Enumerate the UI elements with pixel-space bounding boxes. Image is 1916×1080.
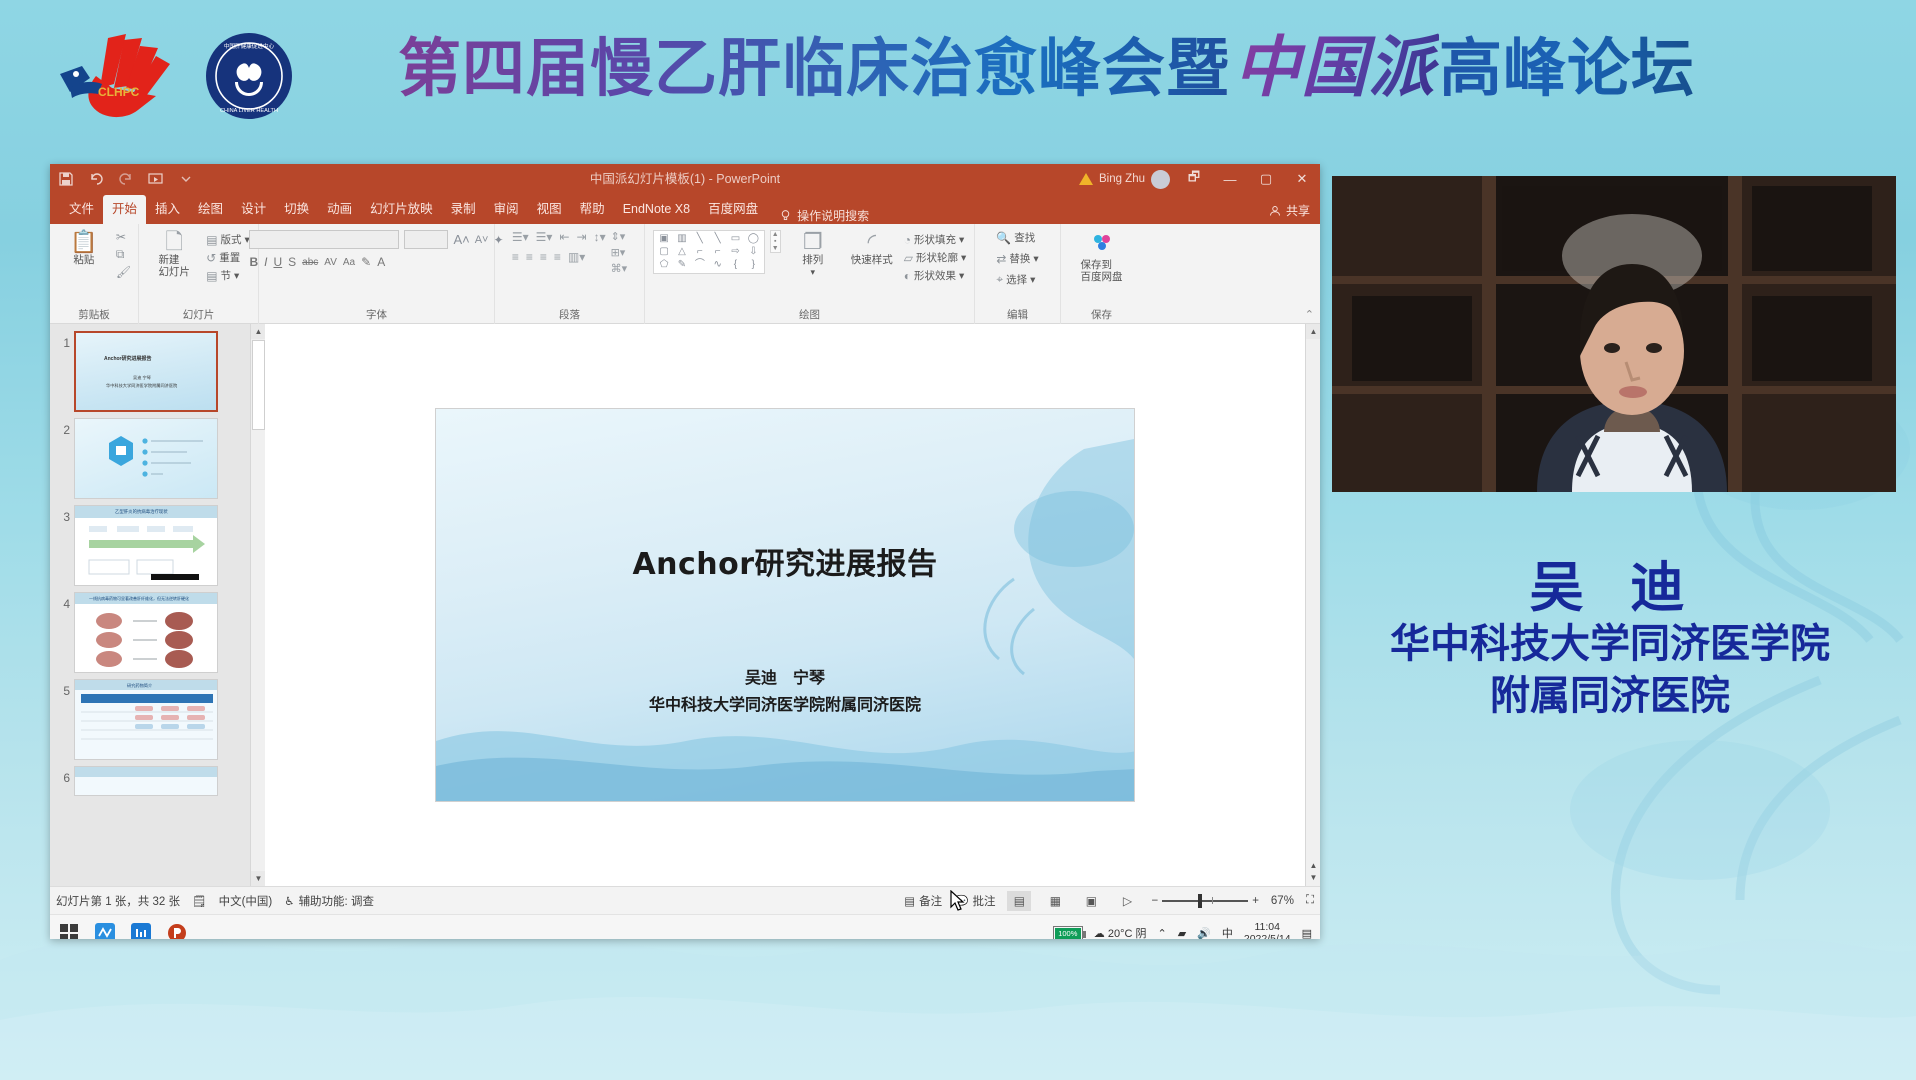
presenter-webcam-video [1332, 176, 1896, 492]
account-indicator[interactable]: Bing Zhu [1079, 170, 1170, 189]
find-label: 查找 [1014, 230, 1035, 245]
app-icon[interactable] [130, 922, 152, 939]
search-icon: 🔍 [996, 231, 1011, 245]
shape-square-icon[interactable]: ▢ [656, 246, 673, 258]
tab-endnote[interactable]: EndNote X8 [614, 195, 699, 224]
baidu-netdisk-icon [1090, 230, 1114, 259]
show-hidden-icons-button[interactable]: ⌃ [1157, 927, 1166, 940]
thumbnail-slide-1[interactable]: Anchor研究进展报告 吴迪 宁琴 华中科技大学同济医学院附属同济医院 [74, 331, 218, 412]
current-slide[interactable]: Anchor研究进展报告 吴迪 宁琴 华中科技大学同济医学院附属同济医院 [435, 408, 1135, 802]
section-icon: ▤ [206, 269, 217, 283]
shape-pentagon-icon[interactable]: ⬠ [656, 259, 673, 271]
powerpoint-titlebar: 中国派幻灯片模板(1) - PowerPoint Bing Zhu 🗗 — ▢ … [50, 164, 1320, 194]
thumb3-graphic [75, 518, 218, 586]
font-name-input[interactable] [249, 230, 399, 249]
bold-button[interactable]: B [249, 255, 258, 269]
reset-icon: ↺ [206, 251, 216, 265]
thumbnail-slide-2[interactable] [74, 418, 218, 499]
avatar[interactable] [1151, 170, 1170, 189]
quick-styles-icon: ◜ [867, 230, 876, 254]
clock-time: 11:04 [1244, 921, 1291, 933]
shape-effects-label: 形状效果 [914, 268, 956, 283]
change-case-button[interactable]: Aa [343, 257, 355, 268]
shapes-scroll-up-icon[interactable]: ▲ [772, 231, 779, 238]
shape-curve-icon[interactable]: ∿ [709, 259, 726, 271]
new-slide-label: 新建 幻灯片 [158, 254, 190, 278]
clock[interactable]: 11:04 2022/5/14 [1244, 921, 1291, 939]
layout-button[interactable]: ▤版式▾ [206, 232, 250, 247]
underline-button[interactable]: U [273, 255, 282, 269]
group-label-drawing: 绘图 [645, 307, 974, 322]
powerpoint-window: 中国派幻灯片模板(1) - PowerPoint Bing Zhu 🗗 — ▢ … [50, 164, 1320, 939]
slide-author-text[interactable]: 吴迪 宁琴 [436, 664, 1134, 688]
thumbnail-number: 3 [52, 505, 70, 524]
numbering-icon[interactable]: ☰▾ [536, 230, 553, 244]
new-slide-icon: 🗋 [165, 230, 183, 254]
thumb1-sub2: 华中科技大学同济医学院附属同济医院 [106, 383, 177, 389]
thumb5-title: 研究药物简介 [127, 683, 152, 689]
slide-sorter-view-button[interactable]: ▦ [1043, 891, 1067, 911]
shape-fill-button[interactable]: ◔形状填充▾ [904, 232, 967, 247]
bullets-icon[interactable]: ☰▾ [512, 230, 529, 244]
shape-arrow-down-icon[interactable]: ⇩ [745, 246, 762, 258]
svg-text:CLHPC: CLHPC [98, 85, 140, 99]
tab-animations[interactable]: 动画 [318, 195, 361, 224]
fit-slide-to-window-button[interactable]: ⛶ [1306, 894, 1314, 907]
notes-icon: ▤ [904, 894, 915, 908]
replace-icon: ⇄ [996, 252, 1006, 266]
font-color-button[interactable]: A [377, 255, 385, 269]
slide-affiliation-text[interactable]: 华中科技大学同济医学院附属同济医院 [436, 691, 1134, 715]
shape-freeform-icon[interactable]: ✎ [674, 259, 691, 271]
thumbnail-slide-6[interactable] [74, 766, 218, 796]
thumb5-graphic [75, 690, 218, 760]
paragraph-row-2[interactable]: ≡ ≡ ≡ ≡ ▥▾ [512, 250, 606, 264]
thumb2-graphic [75, 419, 218, 499]
shape-fill-chevron-icon: ▾ [959, 234, 964, 246]
battery-icon[interactable]: 100% [1053, 926, 1083, 940]
thumbnail-slide-5[interactable]: 研究药物简介 [74, 679, 218, 760]
quick-styles-button[interactable]: ◜ 快速样式 [845, 230, 899, 266]
slide-scroll-down-button[interactable]: ▼ [1310, 873, 1318, 882]
align-text-icon[interactable]: ⊞▾ [611, 246, 628, 259]
tab-help[interactable]: 帮助 [571, 195, 614, 224]
network-icon[interactable]: ▰ [1178, 927, 1186, 940]
shape-effects-button[interactable]: ◐形状效果▾ [904, 268, 967, 283]
strikethrough-button[interactable]: abc [302, 257, 318, 268]
lightbulb-icon [779, 209, 792, 222]
shape-outline-button[interactable]: ▱形状轮廓▾ [904, 250, 967, 265]
zoom-track[interactable] [1162, 900, 1248, 902]
volume-icon[interactable]: 🔊 [1197, 927, 1211, 940]
slide-canvas-area[interactable]: Anchor研究进展报告 吴迪 宁琴 华中科技大学同济医学院附属同济医院 [265, 324, 1305, 886]
chevron-down-icon-2: ▾ [234, 270, 239, 282]
person-share-icon [1269, 205, 1281, 217]
replace-button[interactable]: ⇄替换▾ [996, 251, 1038, 266]
group-label-slides: 幻灯片 [139, 307, 258, 322]
accessibility-status[interactable]: ♿ 辅助功能: 调查 [284, 893, 374, 909]
windows-taskbar[interactable]: 100% ☁ 20°C 阴 ⌃ ▰ 🔊 中 11:04 2022/5/14 ▤ [50, 914, 1320, 939]
battery-level: 100% [1055, 928, 1081, 939]
weather-label: 20°C 阴 [1108, 928, 1147, 939]
notes-button[interactable]: ▤ 备注 [904, 893, 942, 909]
tab-file[interactable]: 文件 [60, 195, 103, 224]
save-to-baidu-label: 保存到 百度网盘 [1081, 259, 1123, 283]
thumb4-graphic [75, 604, 218, 673]
account-name: Bing Zhu [1099, 173, 1145, 185]
text-shadow-button[interactable]: S [288, 255, 296, 269]
slide-vertical-scrollbar[interactable]: ▲ ▲ ▼ [1305, 324, 1320, 886]
zoom-out-button[interactable]: − [1151, 895, 1158, 907]
thumbnail-scroll-thumb[interactable] [252, 340, 265, 430]
group-label-save: 保存 [1061, 307, 1142, 322]
tab-draw[interactable]: 绘图 [189, 195, 232, 224]
shape-fill-icon: ◔ [904, 233, 911, 247]
copy-button[interactable]: ⧉ [116, 247, 131, 262]
tab-insert[interactable]: 插入 [146, 195, 189, 224]
action-center-icon[interactable]: ▤ [1302, 927, 1312, 940]
columns-icon[interactable]: ▥▾ [568, 250, 585, 264]
text-direction-icon[interactable]: ⇕▾ [611, 230, 628, 243]
accessibility-icon: ♿ [284, 894, 294, 908]
ribbon-group-save: 保存到 百度网盘 保存 [1060, 224, 1142, 324]
shape-outline-label: 形状轮廓 [916, 250, 958, 265]
slide-title-text[interactable]: Anchor研究进展报告 [436, 539, 1134, 583]
align-left-icon[interactable]: ≡ [512, 250, 519, 264]
shape-arrow-right-icon[interactable]: ⇨ [727, 246, 744, 258]
layout-icon: ▤ [206, 233, 217, 247]
comments-label: 批注 [972, 893, 995, 909]
decrease-indent-icon[interactable]: ⇤ [559, 230, 569, 244]
paste-label: 粘贴 [73, 254, 94, 266]
event-title: 第四届慢乙肝临床治愈峰会暨中国派高峰论坛 [398, 30, 1695, 107]
format-painter-button[interactable]: 🖌 [116, 265, 131, 279]
select-label: 选择 [1006, 272, 1027, 287]
format-painter-icon: 🖌 [116, 265, 131, 279]
thumbnail-number: 2 [52, 418, 70, 437]
presenter-name: 吴 迪 [1332, 543, 1896, 622]
ribbon-display-options-button[interactable]: 🗗 [1182, 168, 1206, 190]
line-spacing-icon[interactable]: ↕▾ [594, 230, 606, 244]
decrease-font-size-icon[interactable]: A˅ [475, 234, 489, 246]
reading-view-button[interactable]: ▣ [1079, 891, 1103, 911]
ribbon-group-paragraph: ☰▾ ☰▾ ⇤ ⇥ ↕▾ ≡ ≡ ≡ ≡ ▥▾ [494, 224, 644, 324]
zoom-level-label[interactable]: 67% [1271, 895, 1294, 907]
slide-scroll-up-button[interactable]: ▲ [1306, 324, 1320, 339]
copy-icon: ⧉ [116, 247, 125, 262]
thumbnail-row[interactable]: 4 一线抗病毒药物可显著改善肝纤维化，但无法逆转肝硬化 [50, 589, 265, 676]
thumb3-title: 乙型肝炎的抗病毒治疗现状 [115, 509, 168, 515]
shape-rect-icon[interactable]: ▭ [727, 233, 744, 245]
system-tray[interactable]: 100% ☁ 20°C 阴 ⌃ ▰ 🔊 中 11:04 2022/5/14 ▤ [1053, 921, 1312, 939]
section-button[interactable]: ▤节▾ [206, 268, 250, 283]
thumbnail-row[interactable]: 3 乙型肝炎的抗病毒治疗现状 [50, 502, 265, 589]
ribbon-group-editing: 🔍查找 ⇄替换▾ ⌖选择▾ 编辑 [974, 224, 1060, 324]
replace-label: 替换 [1009, 251, 1030, 266]
tab-home[interactable]: 开始 [103, 195, 146, 224]
previous-slide-button[interactable]: ▲ [1310, 861, 1318, 870]
thumb4-title: 一线抗病毒药物可显著改善肝纤维化，但无法逆转肝硬化 [89, 596, 189, 602]
clock-date: 2022/5/14 [1244, 933, 1291, 939]
arrange-label: 排列 [802, 254, 823, 266]
tell-me-search[interactable]: 操作说明搜索 [767, 207, 869, 224]
notes-label: 备注 [919, 893, 942, 909]
ribbon-group-slides: 🗋 新建 幻灯片 ▤版式▾ ↺重置 ▤节▾ 幻灯片 [138, 224, 258, 324]
shapes-scroll-down-icon[interactable]: ▼ [772, 245, 779, 252]
shape-elbow-icon[interactable]: ⌐ [691, 246, 708, 258]
thumb1-sub: 吴迪 宁琴 [133, 375, 151, 381]
shape-outline-icon: ▱ [904, 251, 913, 265]
event-title-part1: 第四届慢乙肝临床治愈峰会暨 [398, 31, 1230, 107]
paste-icon: 📋 [70, 230, 97, 254]
shape-textbox-icon[interactable]: ▣ [656, 233, 673, 245]
language-label[interactable]: 中文(中国) [219, 893, 273, 909]
shapes-gallery[interactable]: ▣▥ ╲╲ ▭◯ ▢△ ⌐⌐ ⇨⇩ ⬠✎ ⌒∿ {} [653, 230, 765, 274]
event-title-part2: 高峰论坛 [1439, 31, 1695, 107]
tab-review[interactable]: 审阅 [485, 195, 528, 224]
thumbnail-slide-4[interactable]: 一线抗病毒药物可显著改善肝纤维化，但无法逆转肝硬化 [74, 592, 218, 673]
shapes-scroll-thumb[interactable]: ▪ [774, 238, 776, 245]
weather-icon: ☁ [1094, 928, 1105, 939]
arrange-icon: ❐ [803, 230, 823, 254]
shape-outline-chevron-icon: ▾ [961, 252, 966, 264]
wechat-icon[interactable] [94, 922, 116, 939]
cursor-select-icon: ⌖ [996, 272, 1003, 287]
shape-brace-left-icon[interactable]: { [727, 259, 744, 271]
broadcast-stage: CLHPC 中国肝健康促进中心 CHINA LIVER HEALTH 第四届慢乙… [0, 0, 1916, 1080]
cut-button[interactable]: ✂ [116, 230, 131, 244]
thumbnail-row[interactable]: 2 [50, 415, 265, 502]
replace-chevron-icon: ▾ [1033, 253, 1038, 265]
select-chevron-icon: ▾ [1030, 274, 1035, 286]
thumbnail-scrollbar[interactable]: ▲ ▼ [250, 324, 265, 886]
ribbon-home-tab: 📋 粘贴 ✂ ⧉ 🖌 剪贴板 🗋 新建 幻灯片 [50, 224, 1320, 324]
china-liver-health-logo-icon: 中国肝健康促进中心 CHINA LIVER HEALTH [205, 32, 293, 120]
smartart-icon[interactable]: ⌘▾ [611, 262, 628, 275]
save-to-baidu-button[interactable]: 保存到 百度网盘 [1067, 230, 1136, 283]
logo-circle-bottom-text: CHINA LIVER HEALTH [220, 108, 278, 114]
zoom-slider[interactable]: − + [1151, 895, 1258, 907]
tab-record[interactable]: 录制 [442, 195, 485, 224]
ribbon-group-drawing: ▣▥ ╲╲ ▭◯ ▢△ ⌐⌐ ⇨⇩ ⬠✎ ⌒∿ {} ▲▪▼ ❐ 排列 [644, 224, 974, 324]
ime-indicator[interactable]: 中 [1222, 925, 1233, 939]
thumbnail-row[interactable]: 6 [50, 763, 265, 799]
find-button[interactable]: 🔍查找 [996, 230, 1038, 245]
presenter-org-line2: 附属同济医院 [1310, 672, 1910, 720]
powerpoint-icon[interactable] [166, 922, 188, 939]
event-header-banner: CLHPC 中国肝健康促进中心 CHINA LIVER HEALTH 第四届慢乙… [0, 0, 1916, 138]
quick-styles-label: 快速样式 [851, 254, 893, 266]
windows-start-icon[interactable] [58, 922, 80, 939]
arrange-button[interactable]: ❐ 排列 ▾ [786, 230, 840, 278]
increase-indent-icon[interactable]: ⇥ [577, 230, 587, 244]
thumbnail-scroll-down-button[interactable]: ▼ [251, 871, 265, 886]
clhpc-hand-logo-icon: CLHPC [52, 30, 182, 122]
presenter-org-line1: 华中科技大学同济医学院 [1310, 620, 1910, 668]
thumbnail-slide-3[interactable]: 乙型肝炎的抗病毒治疗现状 [74, 505, 218, 586]
new-slide-button[interactable]: 🗋 新建 幻灯片 [147, 230, 201, 278]
shape-line2-icon[interactable]: ╲ [709, 233, 726, 245]
group-label-font: 字体 [259, 307, 494, 322]
shape-fill-label: 形状填充 [914, 232, 956, 247]
section-label: 节 [221, 268, 232, 283]
tab-baidu-netdisk[interactable]: 百度网盘 [699, 195, 767, 224]
shape-line-icon[interactable]: ╲ [691, 233, 708, 245]
slide-thumbnail-pane[interactable]: 1 Anchor研究进展报告 吴迪 宁琴 华中科技大学同济医学院附属同济医院 2 [50, 324, 265, 886]
thumbnail-number: 5 [52, 679, 70, 698]
thumbnail-number: 1 [52, 331, 70, 350]
thumbnail-number: 6 [52, 766, 70, 785]
tab-view[interactable]: 视图 [528, 195, 571, 224]
share-label: 共享 [1286, 202, 1310, 219]
mouse-cursor-icon [950, 890, 966, 917]
ribbon-tab-strip[interactable]: 文件 开始 插入 绘图 设计 切换 动画 幻灯片放映 录制 审阅 视图 帮助 E… [50, 194, 1320, 224]
paragraph-row-1[interactable]: ☰▾ ☰▾ ⇤ ⇥ ↕▾ [512, 230, 606, 244]
justify-icon[interactable]: ≡ [554, 250, 561, 264]
shape-triangle-icon[interactable]: △ [674, 246, 691, 258]
shapes-scrollbar[interactable]: ▲▪▼ [770, 230, 781, 253]
tab-design[interactable]: 设计 [232, 195, 275, 224]
select-button[interactable]: ⌖选择▾ [996, 272, 1038, 287]
ribbon-group-clipboard: 📋 粘贴 ✂ ⧉ 🖌 剪贴板 [50, 224, 138, 324]
powerpoint-status-bar: 幻灯片第 1 张，共 32 张 🗒 中文(中国) ♿ 辅助功能: 调查 ▤ 备注… [50, 886, 1320, 914]
minimize-button[interactable]: — [1218, 172, 1242, 187]
font-size-input[interactable] [404, 230, 448, 249]
group-label-paragraph: 段落 [495, 307, 644, 322]
thumbnail-row[interactable]: 5 研究药物简介 [50, 676, 265, 763]
shape-arc-icon[interactable]: ⌒ [691, 259, 708, 271]
arrange-chevron-icon: ▾ [810, 266, 815, 278]
spell-check-icon[interactable]: 🗒 [192, 894, 207, 908]
tell-me-label: 操作说明搜索 [797, 207, 869, 224]
align-right-icon[interactable]: ≡ [540, 250, 547, 264]
thumb1-title: Anchor研究进展报告 [104, 355, 152, 362]
character-spacing-button[interactable]: AV [324, 257, 337, 268]
tab-slideshow[interactable]: 幻灯片放映 [361, 195, 442, 224]
editor-area: 1 Anchor研究进展报告 吴迪 宁琴 华中科技大学同济医学院附属同济医院 2 [50, 324, 1320, 886]
share-button[interactable]: 共享 [1269, 202, 1310, 219]
logo-circle-top-text: 中国肝健康促进中心 [224, 42, 275, 50]
zoom-100-tick [1212, 897, 1213, 904]
paste-button[interactable]: 📋 粘贴 [57, 230, 111, 266]
thumbnail-scroll-up-button[interactable]: ▲ [251, 324, 265, 339]
layout-label: 版式 [221, 232, 242, 247]
zoom-in-button[interactable]: + [1252, 895, 1259, 907]
warning-icon [1079, 173, 1093, 185]
accessibility-label: 辅助功能: 调查 [299, 893, 374, 909]
zoom-handle[interactable] [1198, 894, 1202, 908]
thumbnail-number: 4 [52, 592, 70, 611]
reset-label: 重置 [219, 250, 240, 265]
scissors-icon: ✂ [116, 230, 126, 244]
shape-frame-icon[interactable]: ▥ [674, 233, 691, 245]
shape-brace-right-icon[interactable]: } [745, 259, 762, 271]
event-title-script: 中国派 [1230, 30, 1439, 106]
close-button[interactable]: ✕ [1290, 171, 1314, 187]
thumbnail-row[interactable]: 1 Anchor研究进展报告 吴迪 宁琴 华中科技大学同济医学院附属同济医院 [50, 328, 265, 415]
maximize-button[interactable]: ▢ [1254, 171, 1278, 187]
shape-oval-icon[interactable]: ◯ [745, 233, 762, 245]
group-label-clipboard: 剪贴板 [50, 307, 138, 322]
reset-button[interactable]: ↺重置 [206, 250, 250, 265]
shape-elbow2-icon[interactable]: ⌐ [709, 246, 726, 258]
shape-effects-icon: ◐ [904, 269, 911, 283]
normal-view-button[interactable]: ▤ [1007, 891, 1031, 911]
text-highlight-button[interactable]: ✎ [361, 255, 371, 269]
collapse-ribbon-button[interactable]: ⌃ [1305, 308, 1314, 321]
italic-button[interactable]: I [264, 255, 267, 269]
increase-font-size-icon[interactable]: A˄ [453, 232, 469, 247]
tab-transitions[interactable]: 切换 [275, 195, 318, 224]
align-center-icon[interactable]: ≡ [526, 250, 533, 264]
ribbon-group-font: A˄ A˅ ✦ B I U S abc AV Aa ✎ A [258, 224, 494, 324]
slide-count-label[interactable]: 幻灯片第 1 张，共 32 张 [56, 893, 180, 909]
shape-effects-chevron-icon: ▾ [959, 270, 964, 282]
slideshow-view-button[interactable]: ▷ [1115, 891, 1139, 911]
weather-indicator[interactable]: ☁ 20°C 阴 [1094, 925, 1147, 939]
group-label-editing: 编辑 [975, 307, 1060, 322]
